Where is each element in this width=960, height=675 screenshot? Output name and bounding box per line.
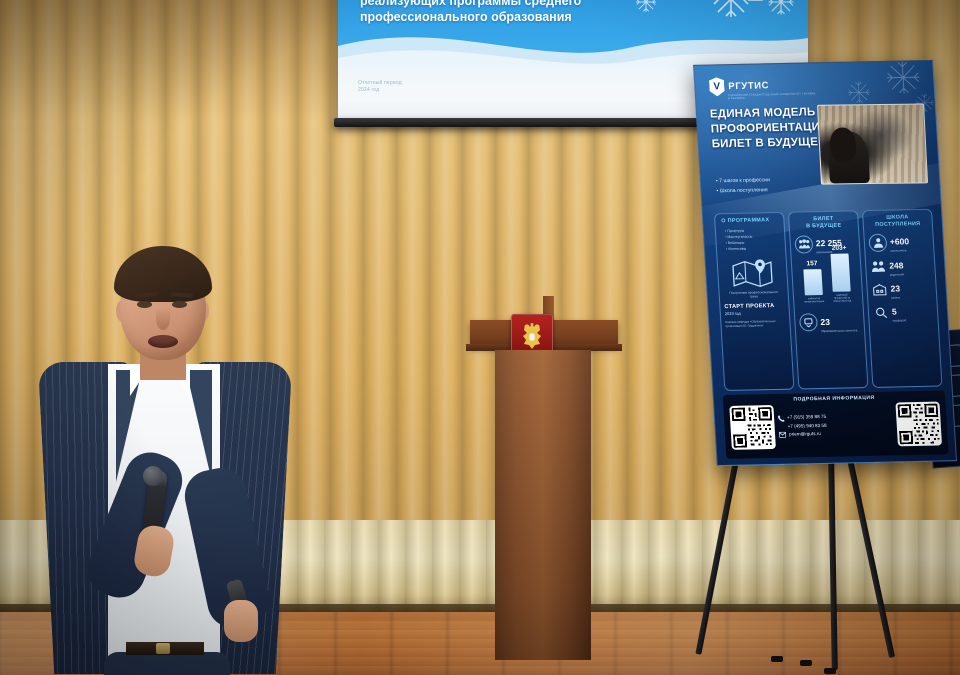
- easel-foot-right: [800, 660, 812, 666]
- podium-body: [495, 350, 591, 660]
- map-pin-icon: [731, 258, 775, 289]
- contact-email: priem@rguts.ru: [789, 430, 821, 439]
- magnifier-icon: [873, 305, 890, 321]
- people-icon: [794, 235, 813, 253]
- ticket-content-value: 23: [820, 316, 830, 326]
- admission-stat-1-label: школьников: [890, 249, 909, 253]
- admission-stat-3-value: 23: [890, 283, 900, 293]
- hair: [114, 246, 212, 302]
- profession-model-poster: V РГУТИС РОССИЙСКИЙ ГОСУДАРСТВЕННЫЙ УНИВ…: [693, 60, 957, 466]
- panel-admission-heading: ШКОЛА ПОСТУПЛЕНИЯ: [867, 214, 928, 229]
- admission-stat-4-value: 5: [892, 307, 897, 317]
- easel-foot-center: [824, 668, 836, 674]
- qr-code-icon[interactable]: [895, 402, 942, 447]
- panel-ticket-to-future: БИЛЕТ В БУДУЩЕЕ 22 255 школьников: [788, 210, 869, 389]
- panel-programs: О ПРОГРАММАХ • Профтуры • Мастер-классы …: [714, 212, 795, 391]
- rgutis-logo-text: РГУТИС: [728, 80, 769, 92]
- bar-2: [830, 254, 850, 292]
- school-icon: [871, 281, 888, 297]
- nose: [156, 308, 170, 330]
- presentation-scene: организациях москов реализующих программ…: [0, 0, 960, 675]
- bar-group-2: 203+ кампаний профессий за новый 2024 го…: [828, 245, 853, 304]
- easel-foot-left: [771, 656, 783, 662]
- contact-details: +7 (915) 359 88 75 +7 (495) 940 83 58 pr…: [778, 412, 894, 440]
- hand-right: [224, 600, 258, 642]
- ticket-content-label: образовательных контента: [821, 329, 857, 333]
- panel-programs-caption: Построение профессионального трека: [723, 289, 784, 299]
- bar-group-1: 157 кабинетов профориентации: [801, 260, 826, 304]
- bar-2-label: кампаний профессий за новый 2024 год: [831, 294, 854, 304]
- panel-admission-school: ШКОЛА ПОСТУПЛЕНИЯ +600 школьников: [862, 209, 943, 388]
- email-icon: [779, 432, 786, 438]
- slide-footer-line-1: Отчетный период: [358, 80, 402, 87]
- admission-stat-2-value: 248: [889, 260, 904, 270]
- panel-programs-heading: О ПРОГРАММАХ: [719, 217, 779, 225]
- qr-code-icon[interactable]: [729, 405, 776, 450]
- contact-email-row: priem@rguts.ru: [779, 429, 894, 440]
- bar-2-value: 203+: [832, 245, 847, 252]
- poster-photo: [817, 103, 928, 184]
- admission-stat-2-label: родителей: [890, 273, 904, 277]
- bar-1: [803, 269, 823, 295]
- admission-stat-1-value: +600: [890, 236, 910, 246]
- eye-left: [137, 301, 152, 308]
- program-item-4: • Интенсивы: [726, 245, 781, 252]
- panel-ticket-heading-line-2: В БУДУЩЕЕ: [794, 222, 854, 230]
- admission-stat-4-label: профпроб: [893, 320, 907, 324]
- panel-programs-list: • Профтуры • Мастер-классы • Вебинары • …: [720, 227, 781, 253]
- admission-stat-2: 248 родителей: [870, 254, 931, 277]
- bar-1-value: 157: [806, 260, 817, 267]
- speaker-person: [20, 238, 300, 675]
- ticket-footer-stat: 23 образовательных контента: [799, 311, 860, 334]
- slide-footer-line-2: 2024 год: [358, 87, 402, 94]
- student-icon: [868, 233, 887, 251]
- admission-stat-3-label: школы: [891, 296, 901, 300]
- admission-stat-1: +600 школьников: [868, 231, 929, 254]
- panel-admission-heading-line-2: ПОСТУПЛЕНИЯ: [868, 221, 928, 229]
- phone-icon: [778, 415, 784, 422]
- eye-right: [172, 301, 187, 308]
- panel-ticket-heading: БИЛЕТ В БУДУЩЕЕ: [793, 215, 854, 230]
- project-start-year: 2023 год: [725, 310, 785, 316]
- mouth: [148, 335, 178, 348]
- admission-stat-4: 5 профпроб: [872, 301, 933, 324]
- belt-buckle: [156, 643, 170, 654]
- rgutis-shield-icon: V: [709, 77, 725, 96]
- project-start-note: Базовая кафедра «Образовательные организ…: [725, 319, 786, 329]
- admission-stat-3: 23 школы: [871, 278, 932, 301]
- trousers: [104, 652, 230, 675]
- project-start-heading: СТАРТ ПРОЕКТА: [724, 303, 784, 310]
- parents-icon: [870, 258, 887, 274]
- slide-footer: Отчетный период 2024 год: [358, 80, 402, 95]
- slide-title-line-2: реализующих программы среднего: [360, 0, 650, 9]
- poster-contact-band: ПОДРОБНАЯ ИНФОРМАЦИЯ: [723, 390, 949, 459]
- bar-1-label: кабинетов профориентации: [803, 297, 825, 304]
- contact-body: +7 (915) 359 88 75 +7 (495) 940 83 58 pr…: [723, 399, 948, 452]
- ticket-bar-chart: 157 кабинетов профориентации 203+ кампан…: [796, 259, 859, 304]
- poster-stat-panels: О ПРОГРАММАХ • Профтуры • Мастер-классы …: [714, 209, 943, 391]
- hand-book-icon: [799, 313, 818, 331]
